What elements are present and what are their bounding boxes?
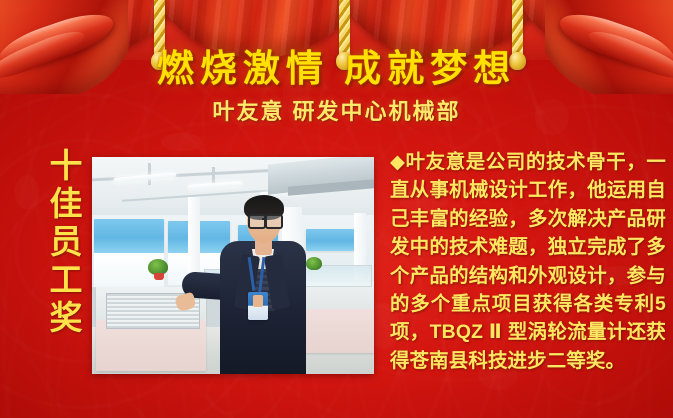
award-title-vertical: 十佳员工奖 (40, 148, 82, 338)
photo-person-id-badge (248, 292, 268, 320)
employee-photo (92, 157, 374, 374)
poster-subtitle: 叶友意 研发中心机械部 (0, 94, 673, 126)
photo-person-eyeglasses (248, 214, 266, 229)
award-poster: 燃烧激情 成就梦想 叶友意 研发中心机械部 十佳员工奖 (0, 0, 673, 418)
poster-main-title: 燃烧激情 成就梦想 (0, 38, 673, 92)
photo-person-eyeglasses (265, 214, 283, 229)
photo-window-blind (94, 219, 164, 253)
employee-description: ◆叶友意是公司的技术骨干，一直从事机械设计工作，他运用自己丰富的经验，多次解决产… (390, 148, 666, 375)
photo-plant (306, 257, 322, 270)
photo-badge-portrait (253, 295, 263, 307)
photo-window-blind (306, 229, 354, 251)
photo-person-eyeglasses-bridge (262, 218, 266, 220)
photo-plant-pot (154, 273, 164, 280)
